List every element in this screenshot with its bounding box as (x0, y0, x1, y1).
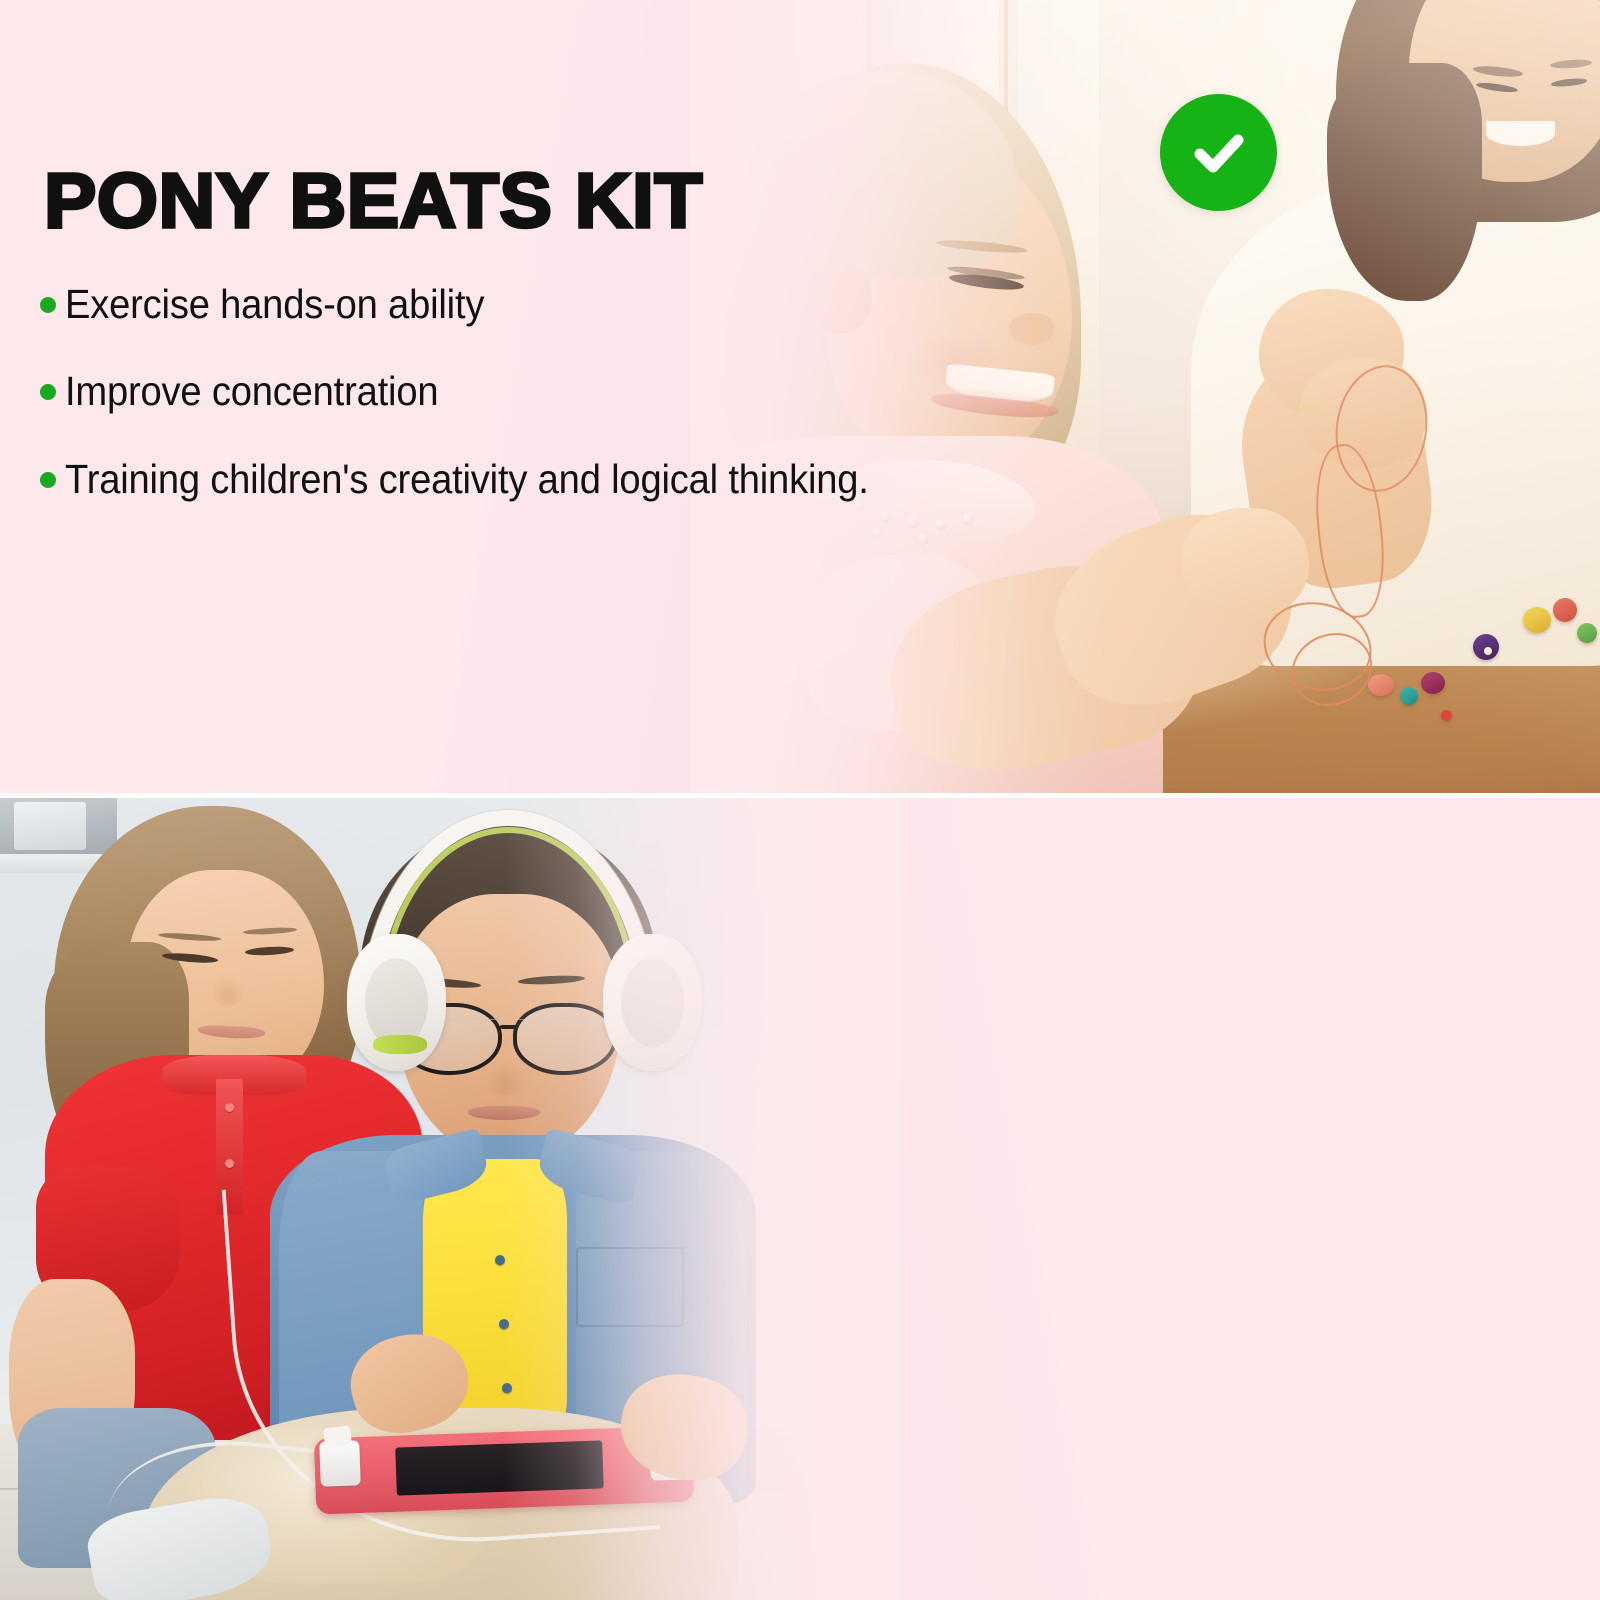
dress-pearl (963, 514, 973, 524)
shelf-object (14, 802, 86, 850)
list-item-label: Exercise hands-on ability (65, 283, 484, 326)
earcup-pad (365, 958, 428, 1046)
children-with-tablet-photo (0, 798, 900, 1600)
list-item: Improve concentration (40, 370, 929, 413)
dress-pearl (936, 519, 946, 529)
girl-hand (1181, 508, 1308, 619)
wooden-bead (1368, 674, 1394, 696)
wooden-bead (1441, 710, 1452, 721)
bottom-panel: TABLETS&PHONES Irritate eyes and increas… (0, 798, 1600, 1600)
boy-nose (486, 1063, 526, 1095)
panel-divider (0, 793, 1600, 798)
earcup-pad (621, 958, 684, 1046)
eyeglasses-bridge (500, 1025, 516, 1029)
benefits-list: Exercise hands-on ability Improve concen… (40, 283, 929, 545)
list-item: Exercise hands-on ability (40, 283, 929, 326)
wooden-bead (1400, 687, 1418, 705)
polo-button (225, 1103, 234, 1112)
infographic-root: PONY BEATS KIT Exercise hands-on ability… (0, 0, 1600, 1600)
list-item-label: Improve concentration (65, 370, 438, 413)
wooden-bead (1553, 598, 1577, 622)
top-panel: PONY BEATS KIT Exercise hands-on ability… (0, 0, 1600, 793)
tablet-screen (395, 1441, 604, 1496)
girl-nose (1009, 313, 1055, 345)
cable-clip (323, 1425, 352, 1447)
girl-nose (212, 979, 244, 1006)
page-title-top: PONY BEATS KIT (44, 163, 703, 240)
check-circle-icon (1160, 94, 1277, 211)
bullet-dot-icon (40, 384, 56, 400)
list-item-label: Training children's creativity and logic… (65, 458, 869, 501)
photo-scene-bottom (0, 798, 900, 1600)
polo-button (225, 1159, 234, 1168)
list-item: Training children's creativity and logic… (40, 458, 929, 501)
tablet-grip (319, 1441, 360, 1487)
wooden-bead (1523, 607, 1551, 633)
headphone-accent (373, 1035, 427, 1054)
bullet-dot-icon (40, 472, 56, 488)
mother-smile (1486, 121, 1554, 146)
bullet-dot-icon (40, 297, 56, 313)
mother-ring (1302, 404, 1320, 411)
wooden-bead (1577, 623, 1597, 643)
